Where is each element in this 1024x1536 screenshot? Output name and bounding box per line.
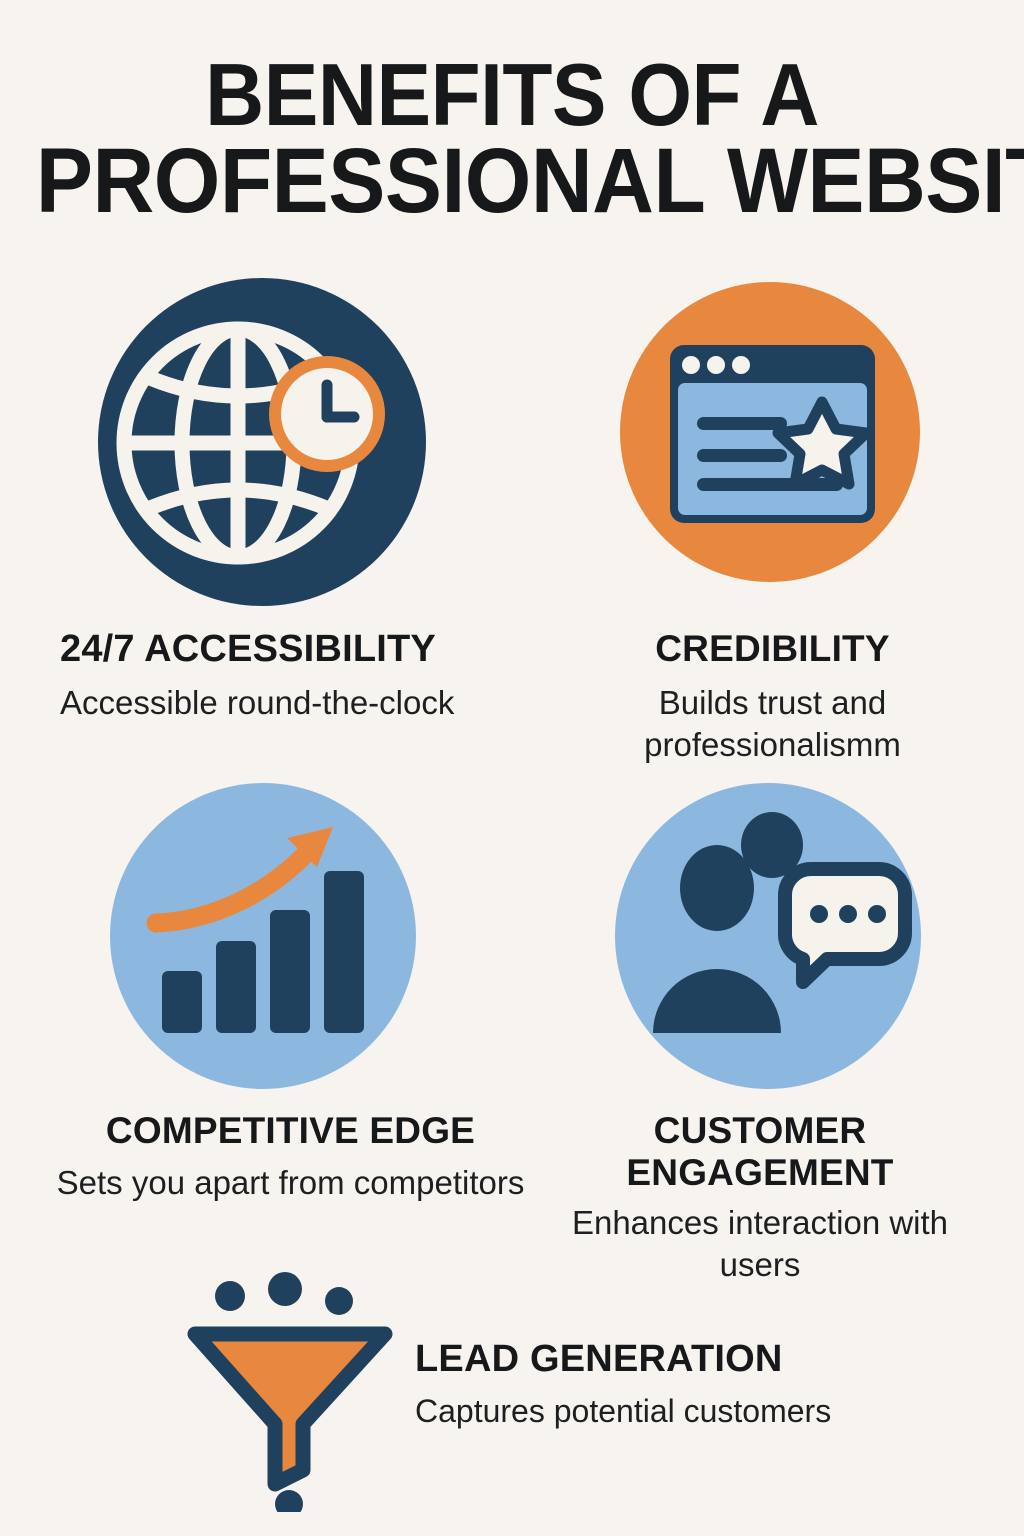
benefit-description-lead-generation: Captures potential customers [415,1390,960,1432]
browser-window-star-icon [620,282,920,582]
benefit-description-credibility: Builds trust and professionalismm [600,682,945,766]
title-line-1: BENEFITS OF A [36,52,988,138]
benefit-heading-lead-generation: LEAD GENERATION [415,1338,960,1380]
bubble-dot [810,905,828,923]
chart-bar [324,871,364,1033]
benefit-text-lead-generation: LEAD GENERATION Captures potential custo… [415,1338,960,1432]
bubble-dot [839,905,857,923]
window-dot [707,356,725,374]
chart-bar [162,971,202,1033]
benefit-icon-credibility [620,282,920,582]
funnel-dot [215,1281,245,1311]
benefit-text-accessibility: 24/7 ACCESSIBILITY Accessible round-the-… [60,628,530,724]
people-speech-bubble-icon [615,783,921,1089]
benefit-heading-competitive-edge: COMPETITIVE EDGE [48,1110,533,1152]
benefit-heading-accessibility: 24/7 ACCESSIBILITY [60,628,530,670]
benefit-text-customer-engagement: CUSTOMER ENGAGEMENT Enhances interaction… [545,1110,975,1286]
benefit-text-competitive-edge: COMPETITIVE EDGE Sets you apart from com… [48,1110,533,1204]
benefit-icon-competitive-edge [110,783,416,1089]
content-line [697,417,787,430]
benefit-icon-customer-engagement [615,783,921,1089]
benefit-text-credibility: CREDIBILITY Builds trust and professiona… [600,628,945,766]
benefit-description-customer-engagement: Enhances interaction with users [545,1202,975,1286]
content-line [697,449,787,462]
benefit-icon-accessibility [98,278,426,606]
benefit-icon-lead-generation [175,1272,405,1512]
person-head-front [680,845,754,931]
page-title: BENEFITS OF A PROFESSIONAL WEBSITE [0,52,1024,224]
chart-bar [216,941,256,1033]
window-dot [732,356,750,374]
benefit-description-accessibility: Accessible round-the-clock [60,682,530,724]
growth-bar-chart-arrow-icon [110,783,416,1089]
funnel-icon [175,1272,405,1512]
window-dot [682,356,700,374]
speech-bubble [785,869,905,982]
funnel-dot [325,1287,353,1315]
growth-arrow [156,827,333,923]
chart-bar [270,910,310,1033]
title-line-2: PROFESSIONAL WEBSITE [36,138,988,224]
benefit-heading-customer-engagement: CUSTOMER ENGAGEMENT [545,1110,975,1194]
funnel-dot [275,1490,303,1512]
infographic-canvas: BENEFITS OF A PROFESSIONAL WEBSITE [0,0,1024,1536]
person-body [653,969,781,1033]
benefit-description-competitive-edge: Sets you apart from competitors [48,1162,533,1204]
funnel-shape [195,1334,385,1484]
funnel-dot [268,1272,302,1306]
bubble-dot [868,905,886,923]
content-line [697,478,843,491]
globe-clock-icon [98,278,426,606]
benefit-heading-credibility: CREDIBILITY [600,628,945,670]
